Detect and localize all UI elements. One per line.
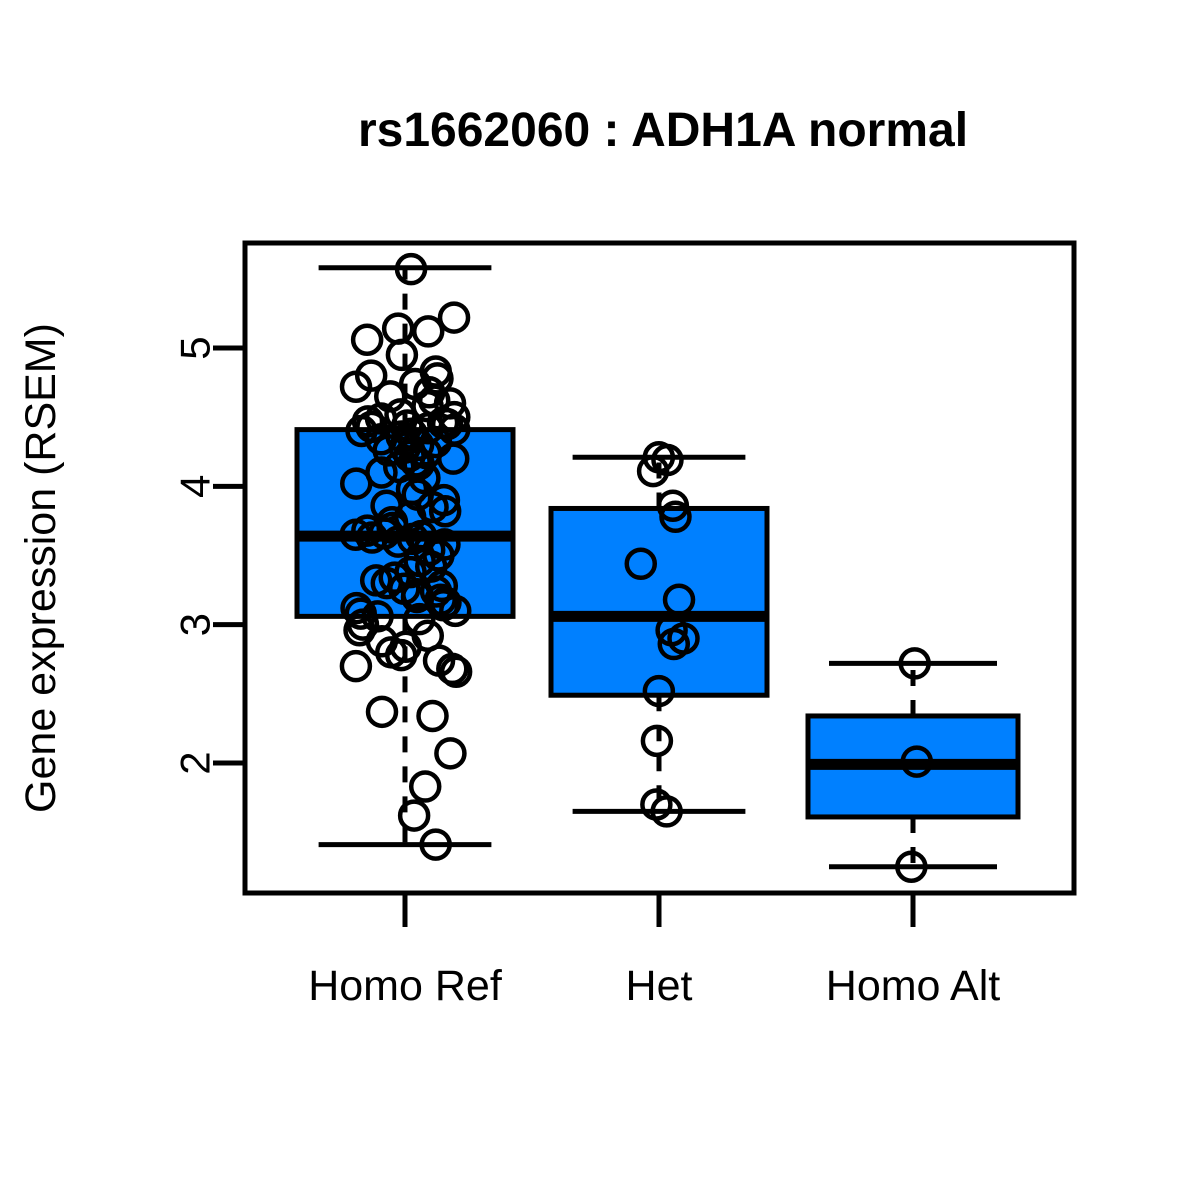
data-point	[440, 304, 468, 332]
data-point	[368, 698, 396, 726]
y-axis-title: Gene expression (RSEM)	[17, 323, 65, 813]
x-axis-category-labels: Homo RefHetHomo Alt	[308, 962, 1000, 1010]
data-point	[419, 702, 447, 730]
x-category-label: Het	[626, 962, 693, 1010]
x-category-label: Homo Alt	[826, 962, 1001, 1010]
data-point	[414, 317, 442, 345]
y-axis-tick-labels: 2345	[172, 336, 219, 774]
data-point	[400, 802, 428, 830]
y-tick-label: 3	[172, 613, 219, 636]
data-point	[411, 773, 439, 801]
box-iqr-rect	[551, 508, 767, 695]
chart-title: rs1662060 : ADH1A normal	[358, 104, 968, 157]
box-group	[808, 663, 1018, 866]
x-axis-ticks	[405, 893, 913, 927]
x-category-label: Homo Ref	[308, 962, 503, 1010]
data-point	[388, 341, 416, 369]
boxplot-figure: rs1662060 : ADH1A normal Gene expression…	[0, 0, 1200, 1200]
data-point	[436, 739, 464, 767]
y-tick-label: 2	[172, 751, 219, 774]
y-tick-label: 5	[172, 336, 219, 359]
y-tick-label: 4	[172, 475, 219, 498]
y-axis-ticks	[213, 348, 245, 763]
data-point	[353, 326, 381, 354]
data-point	[342, 652, 370, 680]
chart-canvas: rs1662060 : ADH1A normal Gene expression…	[0, 0, 1200, 1200]
data-point	[384, 315, 412, 343]
